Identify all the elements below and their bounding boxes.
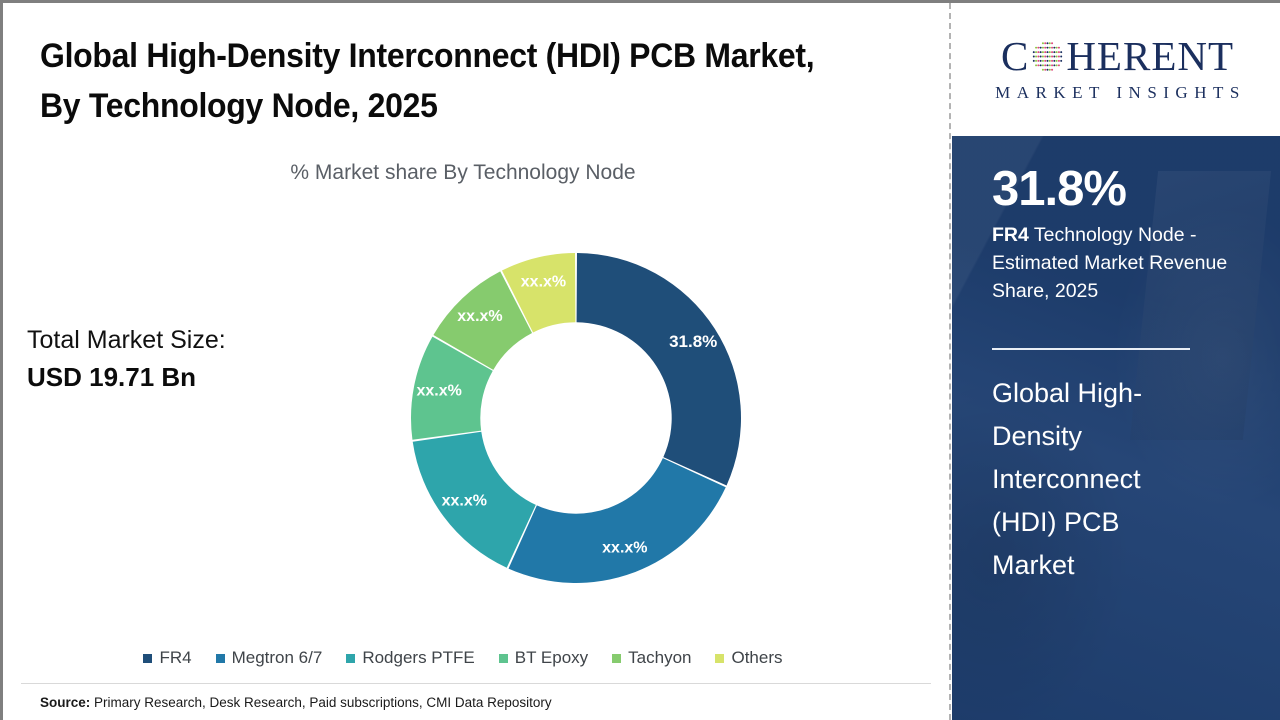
globe-dot	[1047, 51, 1049, 53]
globe-dot	[1038, 56, 1040, 58]
globe-dot	[1051, 64, 1053, 66]
globe-dot	[1040, 56, 1042, 58]
globe-dot	[1045, 42, 1047, 44]
donut-slice-label: xx.x%	[442, 493, 487, 510]
globe-dot	[1051, 56, 1053, 58]
globe-dot	[1054, 51, 1056, 53]
legend-swatch-icon	[612, 654, 621, 663]
globe-dot	[1035, 64, 1037, 66]
globe-dot	[1042, 69, 1044, 71]
globe-dot	[1038, 64, 1040, 66]
globe-dot	[1058, 47, 1060, 49]
main-content: Global High-Density Interconnect (HDI) P…	[3, 3, 949, 720]
donut-slice	[509, 458, 726, 583]
logo-word-left: C	[1001, 36, 1029, 77]
globe-dot	[1035, 51, 1037, 53]
globe-dot	[1033, 51, 1035, 53]
logo-wordmark: C HERENT	[1001, 36, 1234, 77]
globe-dot	[1038, 47, 1040, 49]
globe-dot	[1042, 47, 1044, 49]
globe-dot	[1049, 60, 1051, 62]
globe-dot	[1045, 60, 1047, 62]
chart-legend: FR4Megtron 6/7Rodgers PTFEBT EpoxyTachyo…	[3, 648, 923, 668]
legend-item[interactable]: Rodgers PTFE	[346, 648, 474, 668]
source-note: Source: Primary Research, Desk Research,…	[40, 695, 552, 710]
donut-slice-label: xx.x%	[521, 274, 566, 291]
legend-label: Rodgers PTFE	[362, 648, 474, 668]
globe-dot	[1051, 69, 1053, 71]
globe-dot	[1058, 51, 1060, 53]
report-title: Global High-Density Interconnect (HDI) P…	[992, 372, 1192, 588]
page-title: Global High-Density Interconnect (HDI) P…	[40, 31, 820, 132]
legend-item[interactable]: Tachyon	[612, 648, 691, 668]
stat-description: FR4 Technology Node - Estimated Market R…	[992, 222, 1244, 305]
globe-dot	[1033, 56, 1035, 58]
globe-dot	[1049, 56, 1051, 58]
globe-dot	[1051, 51, 1053, 53]
legend-item[interactable]: BT Epoxy	[499, 648, 588, 668]
globe-dots-icon	[1030, 39, 1065, 74]
globe-dot	[1040, 47, 1042, 49]
globe-dot	[1056, 51, 1058, 53]
legend-label: Others	[731, 648, 782, 668]
stat-value: 31.8%	[992, 164, 1253, 215]
globe-dot	[1040, 60, 1042, 62]
globe-dot	[1058, 60, 1060, 62]
total-market-size: Total Market Size: USD 19.71 Bn	[27, 323, 327, 395]
globe-dot	[1042, 42, 1044, 44]
legend-label: Tachyon	[628, 648, 691, 668]
globe-dot	[1061, 60, 1063, 62]
donut-slice-label: xx.x%	[457, 308, 502, 325]
globe-dot	[1056, 64, 1058, 66]
globe-dot	[1051, 42, 1053, 44]
legend-label: FR4	[159, 648, 191, 668]
logo-tagline: MARKET INSIGHTS	[989, 83, 1246, 103]
donut-slice	[577, 253, 741, 485]
globe-dot	[1054, 56, 1056, 58]
globe-dot	[1061, 51, 1063, 53]
globe-dot	[1049, 69, 1051, 71]
legend-swatch-icon	[143, 654, 152, 663]
globe-dot	[1047, 47, 1049, 49]
globe-dot	[1045, 64, 1047, 66]
stat-description-highlight: FR4	[992, 224, 1029, 246]
globe-dot	[1035, 56, 1037, 58]
donut-slice-label: xx.x%	[417, 383, 462, 400]
globe-dot	[1047, 42, 1049, 44]
logo-word-right: HERENT	[1066, 36, 1234, 77]
legend-item[interactable]: FR4	[143, 648, 191, 668]
legend-item[interactable]: Megtron 6/7	[216, 648, 323, 668]
highlight-panel: 31.8% FR4 Technology Node - Estimated Ma…	[952, 136, 1280, 720]
legend-swatch-icon	[216, 654, 225, 663]
donut-chart-svg: 31.8%xx.x%xx.x%xx.x%xx.x%xx.x%	[383, 225, 769, 615]
globe-dot	[1054, 64, 1056, 66]
globe-dot	[1042, 64, 1044, 66]
globe-dot	[1033, 60, 1035, 62]
source-text: Primary Research, Desk Research, Paid su…	[90, 695, 551, 710]
globe-dot	[1040, 64, 1042, 66]
globe-dot	[1040, 51, 1042, 53]
globe-dot	[1058, 64, 1060, 66]
globe-dot	[1056, 47, 1058, 49]
legend-swatch-icon	[499, 654, 508, 663]
panel-divider	[992, 348, 1190, 350]
panel-content: 31.8% FR4 Technology Node - Estimated Ma…	[952, 136, 1280, 587]
donut-chart: 31.8%xx.x%xx.x%xx.x%xx.x%xx.x%	[383, 225, 769, 615]
globe-dot	[1054, 47, 1056, 49]
globe-dot	[1045, 51, 1047, 53]
globe-dot	[1047, 60, 1049, 62]
legend-item[interactable]: Others	[715, 648, 782, 668]
globe-dot	[1042, 56, 1044, 58]
globe-dot	[1047, 69, 1049, 71]
globe-dot	[1058, 56, 1060, 58]
globe-dot	[1045, 47, 1047, 49]
globe-dot	[1049, 64, 1051, 66]
globe-dots-svg	[1030, 39, 1065, 74]
globe-dot	[1045, 69, 1047, 71]
total-market-size-label: Total Market Size:	[27, 323, 327, 359]
source-label: Source:	[40, 695, 90, 710]
chart-subtitle: % Market share By Technology Node	[3, 161, 923, 185]
legend-label: Megtron 6/7	[232, 648, 323, 668]
globe-dot	[1035, 47, 1037, 49]
total-market-size-value: USD 19.71 Bn	[27, 359, 327, 396]
globe-dot	[1038, 60, 1040, 62]
legend-swatch-icon	[715, 654, 724, 663]
globe-dot	[1056, 56, 1058, 58]
globe-dot	[1047, 56, 1049, 58]
globe-dot	[1045, 56, 1047, 58]
globe-dot	[1056, 60, 1058, 62]
source-divider	[21, 683, 931, 684]
globe-dot	[1042, 51, 1044, 53]
vertical-dashed-divider	[949, 3, 951, 720]
globe-dot	[1051, 60, 1053, 62]
globe-dot	[1049, 51, 1051, 53]
globe-dot	[1047, 64, 1049, 66]
globe-dot	[1061, 56, 1063, 58]
donut-slice-label: 31.8%	[669, 332, 717, 351]
legend-label: BT Epoxy	[515, 648, 588, 668]
globe-dot	[1049, 42, 1051, 44]
globe-dot	[1038, 51, 1040, 53]
globe-dot	[1051, 47, 1053, 49]
infographic-slide: Global High-Density Interconnect (HDI) P…	[0, 0, 1280, 720]
globe-dot	[1042, 60, 1044, 62]
donut-slice-label: xx.x%	[602, 540, 647, 557]
globe-dot	[1054, 60, 1056, 62]
legend-swatch-icon	[346, 654, 355, 663]
globe-dot	[1049, 47, 1051, 49]
brand-logo: C HERENT MARKET INSIGHTS	[952, 3, 1280, 136]
globe-dot	[1035, 60, 1037, 62]
